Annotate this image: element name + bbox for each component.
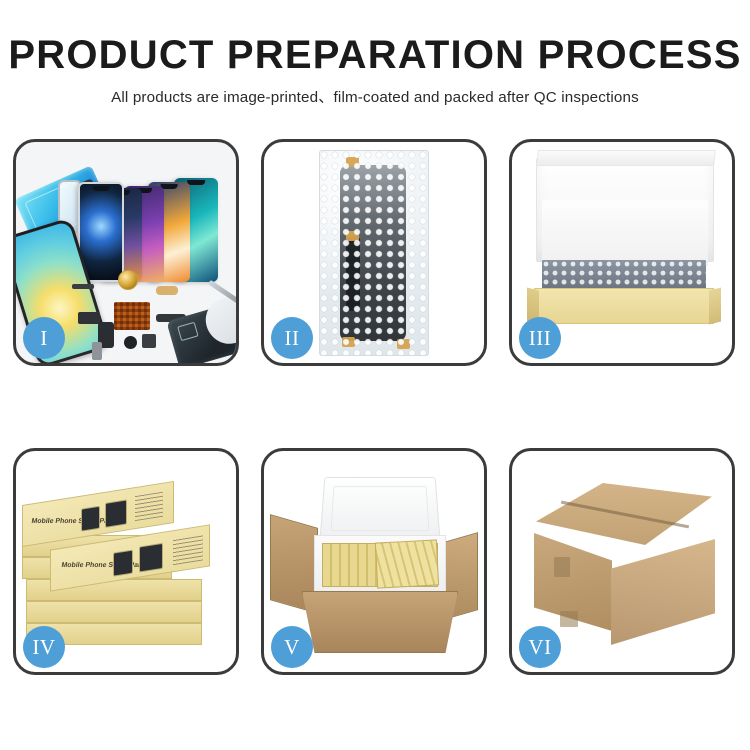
foam-sheet-icon: [542, 200, 708, 266]
step-panel-6[interactable]: VI: [509, 448, 735, 675]
copper-shield-icon: [114, 302, 150, 330]
step-badge-2: II: [271, 317, 313, 359]
retail-box-front-label: Mobile Phone Spare Parts: [61, 562, 147, 569]
part-clip-icon: [78, 312, 100, 324]
step-badge-1: I: [23, 317, 65, 359]
step-badge-3: III: [519, 317, 561, 359]
step-panel-3[interactable]: III: [509, 139, 735, 366]
page-subtitle: All products are image-printed、film-coat…: [0, 85, 750, 107]
part-sim-tray-icon: [92, 342, 102, 360]
box-window-top-a: [81, 506, 100, 532]
step-badge-4: IV: [23, 626, 65, 668]
carton-handle-lower-icon: [560, 611, 578, 627]
step-panel-5[interactable]: V: [261, 448, 487, 675]
header: PRODUCT PREPARATION PROCESS All products…: [0, 34, 750, 107]
box-window-top-b: [105, 499, 127, 527]
carton-front-panel-icon: [302, 591, 458, 653]
bubble-wrap-bag-icon: [319, 150, 429, 356]
part-chip-icon: [142, 334, 156, 348]
cream-box-tray-icon: [534, 288, 714, 324]
part-connector-icon: [156, 286, 178, 295]
step-badge-5: V: [271, 626, 313, 668]
process-step-grid: I II: [13, 139, 739, 675]
box-spec-lines-top: [135, 492, 163, 521]
part-bar-icon: [72, 284, 94, 289]
carton-handle-upper-icon: [554, 557, 570, 577]
step-badge-6: VI: [519, 626, 561, 668]
packed-boxes-row-2-icon: [375, 539, 439, 588]
retail-box-5: [26, 601, 202, 623]
step-panel-1[interactable]: I: [13, 139, 239, 366]
speaker-mesh-icon: [118, 270, 138, 290]
box-window-front-b: [139, 543, 163, 573]
step-panel-4[interactable]: Mobile Phone Spare Parts Mobile Phone Sp…: [13, 448, 239, 675]
carton-front-face-icon: [611, 539, 715, 645]
foam-lid-icon: [319, 477, 440, 542]
spare-parts-cluster: [72, 268, 236, 363]
product-preparation-infographic: PRODUCT PREPARATION PROCESS All products…: [0, 0, 750, 750]
phone-lineup: [78, 160, 236, 282]
bubble-texture: [320, 151, 428, 355]
page-title: PRODUCT PREPARATION PROCESS: [0, 34, 750, 76]
step-panel-2[interactable]: II: [261, 139, 487, 366]
part-button-icon: [124, 336, 137, 349]
box-spec-lines-front: [173, 534, 203, 565]
box-window-front-a: [113, 550, 133, 577]
